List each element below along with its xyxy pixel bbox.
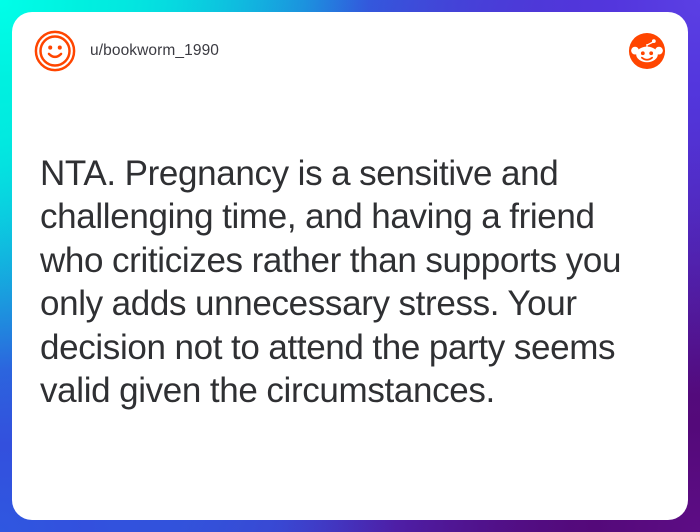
- reddit-snoo-logo-icon[interactable]: [628, 32, 666, 70]
- author-block[interactable]: u/bookworm_1990: [34, 30, 628, 72]
- card-body: NTA. Pregnancy is a sensitive and challe…: [12, 90, 688, 520]
- author-username: u/bookworm_1990: [90, 42, 219, 60]
- reddit-comment-card: u/bookworm_1990: [12, 12, 688, 520]
- card-header: u/bookworm_1990: [12, 12, 688, 90]
- screenshot-stage: u/bookworm_1990: [0, 0, 700, 532]
- post-text: NTA. Pregnancy is a sensitive and challe…: [40, 152, 662, 412]
- smiley-face-avatar-icon[interactable]: [34, 30, 76, 72]
